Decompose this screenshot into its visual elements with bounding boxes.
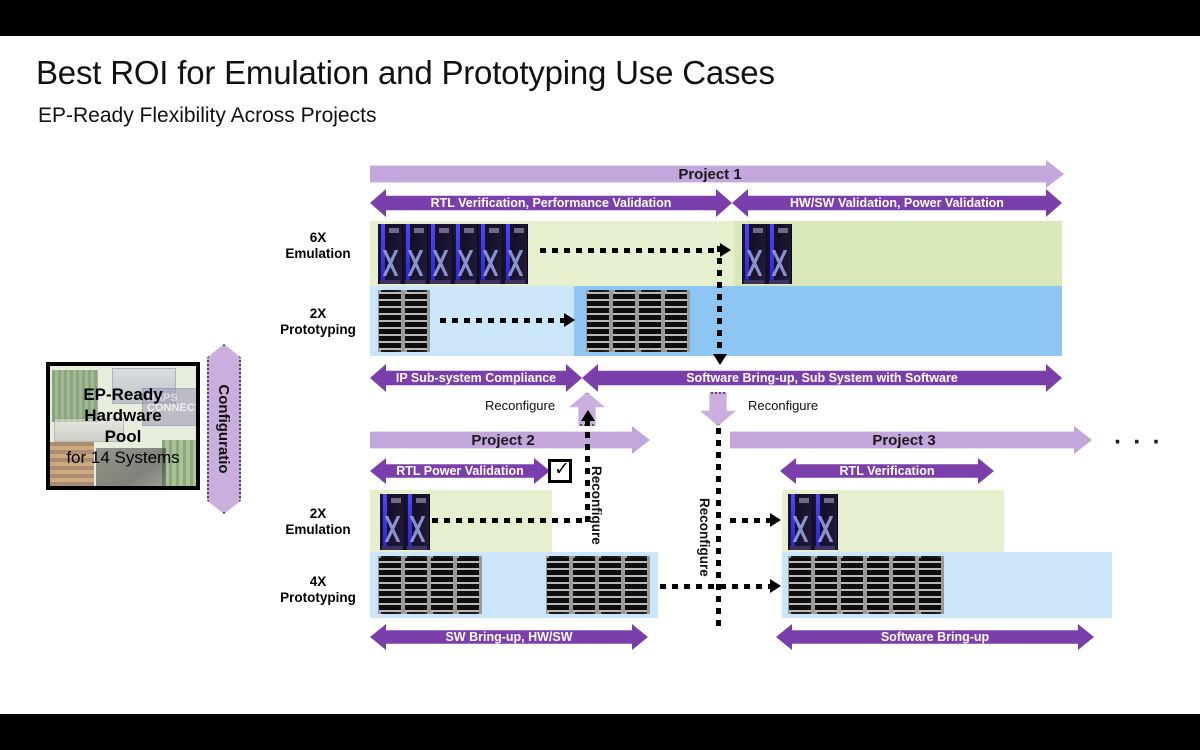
- pool-line-2: Hardware: [84, 406, 161, 426]
- prototyping-rack: [378, 556, 404, 614]
- prototyping-rack: [456, 556, 482, 614]
- activity-rtl-verification-p3: RTL Verification: [780, 458, 994, 484]
- reconfigure-vertical-label-a: Reconfigure: [589, 466, 604, 545]
- prototyping-rack: [788, 556, 814, 614]
- activity-software-bringup-subsystem: Software Bring-up, Sub System with Softw…: [582, 364, 1062, 392]
- prototyping-rack: [378, 290, 404, 352]
- activity-sw-bringup-hwsw: SW Bring-up, HW/SW: [370, 624, 648, 650]
- prototyping-rack: [918, 556, 944, 614]
- pool-line-3: Pool: [105, 427, 142, 447]
- project-1-label: Project 1: [678, 166, 741, 183]
- emulation-rack: [405, 494, 430, 550]
- prototyping-rack: [892, 556, 918, 614]
- flow-connector-emulation-p1: [540, 248, 720, 253]
- emulation-rack: [767, 224, 792, 284]
- activity-label: RTL Verification: [840, 464, 935, 478]
- emulation-rack: [478, 224, 503, 284]
- pool-line-1: EP-Ready: [83, 385, 162, 405]
- activity-rtl-verification-performance-validation: RTL Verification, Performance Validation: [370, 189, 732, 217]
- pool-label-group: EP-Ready Hardware Pool for 14 Systems: [50, 366, 196, 486]
- activity-label: HW/SW Validation, Power Validation: [790, 196, 1004, 210]
- activity-hwsw-validation-power-validation: HW/SW Validation, Power Validation: [732, 189, 1062, 217]
- prototyping-racks-p1-group-b: [586, 290, 690, 352]
- flow-connector-prototyping-p1: [440, 318, 564, 323]
- flow-connector-into-prototyping-p3: [660, 584, 776, 589]
- arrowhead-up-icon: [581, 410, 595, 421]
- row-label-2x-prototyping: 2X Prototyping: [270, 306, 366, 338]
- row-label-6x-emulation: 6X Emulation: [270, 230, 366, 262]
- emulation-rack: [403, 224, 428, 284]
- copyright-text: © 2025 Synopsys, Inc.: [1032, 713, 1132, 714]
- continuation-ellipsis: · · ·: [1114, 428, 1163, 457]
- emulation-racks-p1-group-b: [742, 224, 792, 284]
- flow-connector-emulation-p2: [432, 518, 582, 523]
- page-title: Best ROI for Emulation and Prototyping U…: [36, 54, 775, 92]
- prototyping-rack: [624, 556, 650, 614]
- prototyping-rack: [546, 556, 572, 614]
- completion-checkbox[interactable]: ✓: [548, 459, 572, 483]
- row-label-line-2: Prototyping: [270, 322, 366, 338]
- emulation-rack: [813, 494, 838, 550]
- checkmark-icon: ✓: [554, 461, 570, 479]
- activity-label: RTL Verification, Performance Validation: [431, 196, 672, 210]
- prototyping-racks-p3-group: [788, 556, 944, 614]
- row-label-line-1: 6X: [270, 230, 366, 246]
- flow-connector-vertical-reconfigure-b: [716, 428, 721, 626]
- prototyping-rack: [612, 290, 638, 352]
- emulation-rack: [428, 224, 453, 284]
- project-1-bar: Project 1: [370, 160, 1064, 188]
- ep-ready-hardware-pool-box: HAPS CONNECT EP-Ready Hardware Pool for …: [46, 362, 200, 490]
- emulation-rack: [503, 224, 528, 284]
- row-label-line-2: Prototyping: [270, 590, 366, 606]
- prototyping-rack: [404, 556, 430, 614]
- activity-label: IP Sub-system Compliance: [396, 371, 556, 385]
- reconfigure-vertical-label-b: Reconfigure: [697, 498, 712, 577]
- configuration-label: Configuratio: [207, 344, 241, 514]
- activity-ip-subsystem-compliance: IP Sub-system Compliance: [370, 364, 582, 392]
- arrowhead-right-icon: [770, 579, 781, 593]
- emulation-racks-p2-group: [380, 494, 430, 550]
- activity-label: SW Bring-up, HW/SW: [445, 630, 572, 644]
- flow-connector-vertical-p1: [717, 246, 722, 356]
- emulation-rack: [380, 494, 405, 550]
- prototyping-rack: [664, 290, 690, 352]
- row-label-2x-emulation: 2X Emulation: [270, 506, 366, 538]
- activity-label: Software Bring-up, Sub System with Softw…: [686, 371, 958, 385]
- configuration-chevron: Configuratio: [207, 344, 241, 514]
- letterbox-top: [0, 0, 1200, 36]
- row-label-line-2: Emulation: [270, 246, 366, 262]
- emulation-racks-p3-group: [788, 494, 838, 550]
- slide-canvas: Best ROI for Emulation and Prototyping U…: [0, 36, 1200, 714]
- prototyping-racks-p2-group-a: [378, 556, 482, 614]
- prototyping-rack: [404, 290, 430, 352]
- row-label-4x-prototyping: 4X Prototyping: [270, 574, 366, 606]
- project-2-bar: Project 2: [370, 426, 650, 454]
- emulation-rack: [788, 494, 813, 550]
- project-2-label: Project 2: [471, 432, 534, 449]
- prototyping-racks-p2-group-b: [546, 556, 650, 614]
- activity-label: Software Bring-up: [881, 630, 989, 644]
- prototyping-rack: [598, 556, 624, 614]
- reconfigure-chevron-down-icon: [700, 392, 736, 426]
- project-3-bar: Project 3: [730, 426, 1092, 454]
- reconfigure-label-b: Reconfigure: [748, 398, 818, 413]
- prototyping-rack: [840, 556, 866, 614]
- reconfigure-label-a: Reconfigure: [485, 398, 555, 413]
- emulation-racks-p1-group-a: [378, 224, 528, 284]
- activity-software-bringup-p3: Software Bring-up: [776, 624, 1094, 650]
- row-label-line-1: 4X: [270, 574, 366, 590]
- prototyping-rack: [586, 290, 612, 352]
- row-label-line-1: 2X: [270, 506, 366, 522]
- emulation-rack: [453, 224, 478, 284]
- prototyping-rack: [866, 556, 892, 614]
- activity-label: RTL Power Validation: [396, 464, 524, 478]
- activity-rtl-power-validation: RTL Power Validation: [370, 458, 550, 484]
- emulation-rack: [378, 224, 403, 284]
- prototyping-rack: [430, 556, 456, 614]
- prototyping-rack: [638, 290, 664, 352]
- prototyping-rack: [572, 556, 598, 614]
- slide-number: 3: [1155, 713, 1161, 714]
- emulation-rack: [742, 224, 767, 284]
- row-label-line-2: Emulation: [270, 522, 366, 538]
- prototyping-racks-p1-group-a: [378, 290, 430, 352]
- page-subtitle: EP-Ready Flexibility Across Projects: [38, 104, 376, 128]
- project-3-label: Project 3: [872, 432, 935, 449]
- arrowhead-right-icon: [770, 513, 781, 527]
- letterbox-bottom: [0, 714, 1200, 750]
- pool-line-4: for 14 Systems: [66, 448, 179, 468]
- arrowhead-right-icon: [564, 313, 575, 327]
- row-label-line-1: 2X: [270, 306, 366, 322]
- prototyping-rack: [814, 556, 840, 614]
